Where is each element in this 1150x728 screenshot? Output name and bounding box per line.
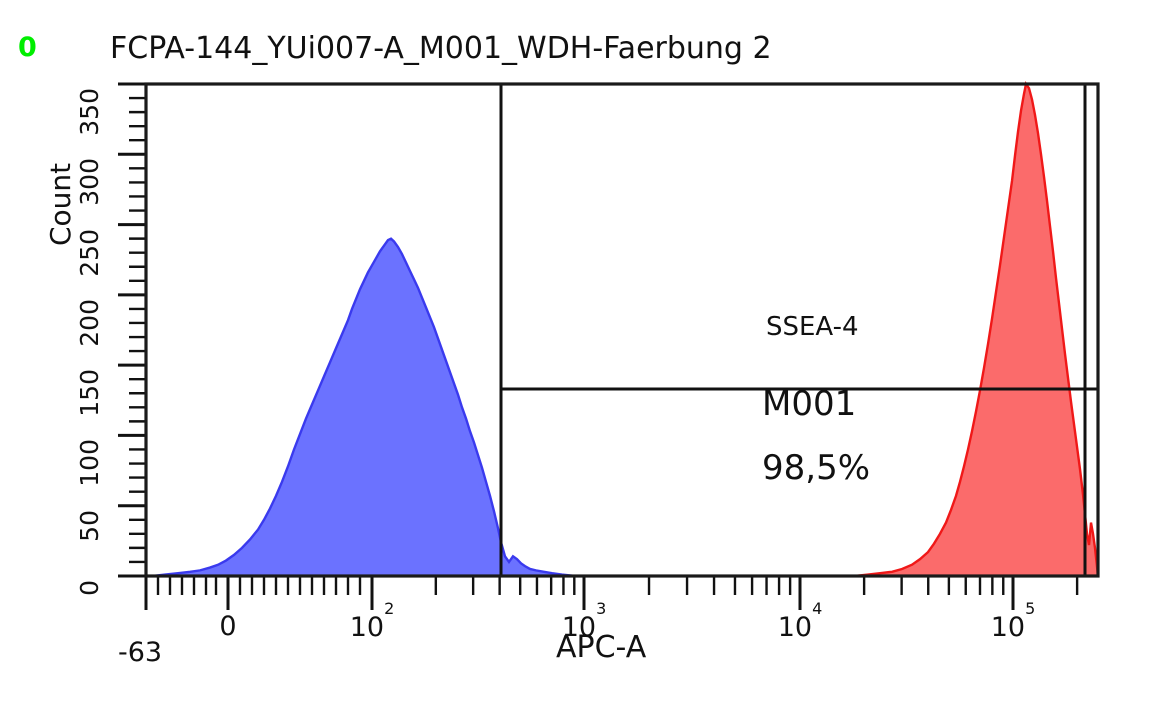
y-tick-label: 200	[75, 299, 104, 347]
series-layer	[153, 84, 1098, 576]
y-tick-label: 250	[75, 229, 104, 277]
x-tick-label: 0	[219, 611, 236, 642]
x-tick-label: 105	[991, 611, 1036, 643]
x-tick-label: 104	[778, 611, 823, 643]
y-tick-label: 150	[75, 369, 104, 417]
flow-cytometry-histogram: 0 FCPA-144_YUi007-A_M001_WDH-Faerbung 2 …	[0, 0, 1150, 728]
y-tick-label: 350	[75, 88, 104, 136]
y-tick-label: 50	[75, 510, 104, 542]
histogram-series	[855, 84, 1098, 576]
x-tick-label: 102	[350, 611, 395, 643]
x-tick-label: 103	[562, 611, 607, 643]
histogram-series	[153, 239, 575, 576]
y-tick-label: 0	[75, 580, 104, 596]
y-tick-label: 100	[75, 439, 104, 487]
y-tick-label: 300	[75, 158, 104, 206]
